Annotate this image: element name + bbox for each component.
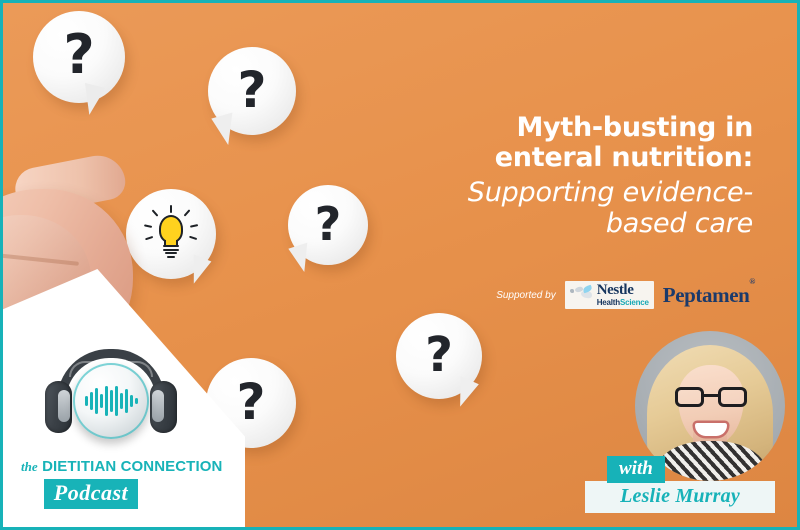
nestle-health-science-logo: Nestle HealthScience <box>565 281 654 309</box>
logo-name-label: DIETITIAN CONNECTION <box>42 458 222 475</box>
lightbulb-icon <box>142 205 200 263</box>
dietitian-connection-podcast-logo: the DIETITIAN CONNECTION Podcast <box>21 349 199 509</box>
sponsor-row: Supported by Nestle HealthScience Peptam… <box>496 281 755 309</box>
question-mark-icon: ? <box>425 331 453 379</box>
episode-title-block: Myth-busting in enteral nutrition: Suppo… <box>423 113 753 239</box>
nestle-nest-icon <box>568 285 594 305</box>
supported-by-label: Supported by <box>496 290 556 301</box>
nestle-wordmark: Nestle <box>597 283 649 298</box>
peptamen-trademark: ® <box>749 277 755 286</box>
headphone-cup-right <box>150 381 177 433</box>
with-label: with <box>607 456 665 483</box>
question-mark-icon: ? <box>315 201 342 247</box>
guest-nameplate: with Leslie Murray <box>585 456 775 513</box>
nestle-science-label: Science <box>620 298 649 307</box>
audio-waveform-orb <box>73 363 149 439</box>
logo-the-label: the <box>21 459 38 474</box>
speech-bubble-question-5: ? <box>396 313 482 399</box>
speech-bubble-question-1: ? <box>33 11 125 103</box>
peptamen-logo: Peptamen® <box>663 283 755 308</box>
headphones-icon <box>43 349 179 453</box>
avatar-smile <box>695 423 727 436</box>
question-mark-icon: ? <box>63 28 94 82</box>
question-mark-icon: ? <box>236 377 265 427</box>
question-mark-icon: ? <box>237 65 266 115</box>
title-line-2: enteral nutrition: <box>423 143 753 173</box>
avatar-glasses <box>675 387 747 407</box>
title-line-1: Myth-busting in <box>423 113 753 143</box>
peptamen-wordmark: Peptamen <box>663 283 750 307</box>
podcast-promo-poster: ? ? ? ? ? <box>0 0 800 530</box>
logo-podcast-label: Podcast <box>44 479 138 509</box>
speech-bubble-question-2: ? <box>208 47 296 135</box>
subtitle-line-2: based care <box>423 208 753 239</box>
speech-bubble-lightbulb <box>126 189 216 279</box>
speech-bubble-question-3: ? <box>288 185 368 265</box>
podcast-logo-wordmark: the DIETITIAN CONNECTION Podcast <box>21 457 199 509</box>
nestle-health-label: Health <box>597 298 620 307</box>
subtitle-line-1: Supporting evidence- <box>423 177 753 208</box>
headphone-cup-left <box>45 381 72 433</box>
guest-name: Leslie Murray <box>585 481 775 513</box>
